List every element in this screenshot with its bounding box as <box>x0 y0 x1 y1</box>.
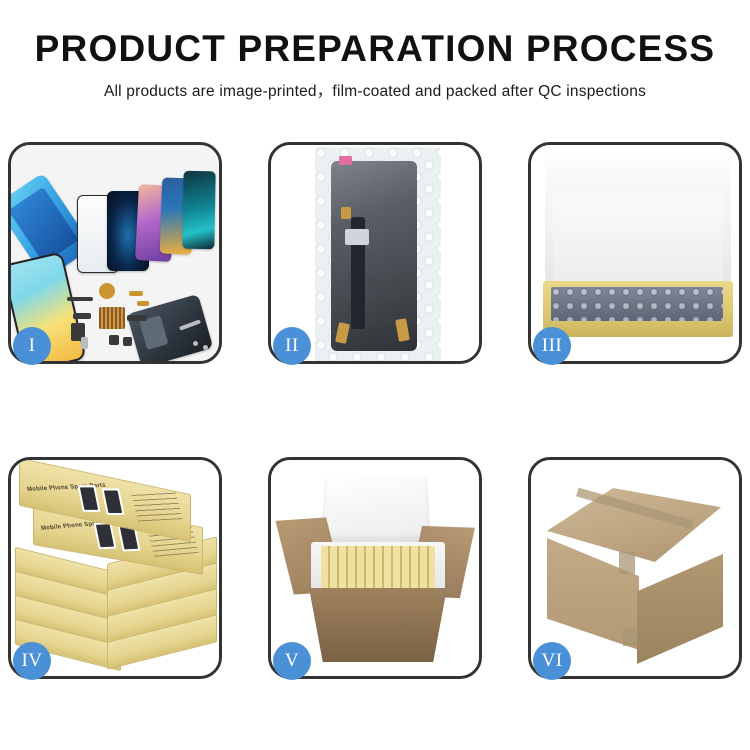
box-print-phone-a2 <box>93 522 116 549</box>
step-badge-4: IV <box>13 642 51 680</box>
pink-tape-marker <box>339 156 352 165</box>
part-camera-module <box>109 335 119 345</box>
step-panel-5: V <box>268 457 482 679</box>
step-image-4: Mobile Phone Spare Parts Mobile Phone Sp… <box>11 460 219 676</box>
part-screw-a <box>193 341 198 346</box>
step-panel-2: II <box>268 142 482 364</box>
box-print-phone-a1 <box>77 485 100 512</box>
step-image-2 <box>271 145 479 361</box>
foam-lid-open <box>321 476 432 542</box>
part-gold-flex-a <box>129 291 143 296</box>
step-badge-5: V <box>273 642 311 680</box>
box-print-phone-b1 <box>101 488 124 515</box>
carton-body <box>309 588 447 662</box>
part-vibrator-motor <box>99 283 115 299</box>
bubble-wrapped-contents <box>551 287 723 321</box>
step-image-5 <box>271 460 479 676</box>
gold-tape-a <box>341 207 351 219</box>
part-gold-flex-b <box>137 301 149 306</box>
step-panel-4: Mobile Phone Spare Parts Mobile Phone Sp… <box>8 457 222 679</box>
yellow-boxes-packed <box>321 546 435 588</box>
step-badge-3: III <box>533 327 571 365</box>
step-panel-3: III <box>528 142 742 364</box>
lcd-connector <box>345 229 369 245</box>
step-image-6 <box>531 460 739 676</box>
sealing-tape-corner <box>619 552 635 574</box>
phone-teal-wave <box>182 171 215 250</box>
part-earpiece-mesh <box>67 297 93 301</box>
step-panel-1: I <box>8 142 222 364</box>
step-badge-6: VI <box>533 642 571 680</box>
process-steps-grid: I II III <box>8 142 742 679</box>
step-badge-2: II <box>273 327 311 365</box>
step-panel-6: VI <box>528 457 742 679</box>
part-chip-array <box>99 307 125 329</box>
step-image-1 <box>11 145 219 361</box>
box-spec-lines-1 <box>131 493 182 522</box>
page-subtitle: All products are image-printed，film-coat… <box>0 79 750 101</box>
part-sim-tray <box>81 337 88 349</box>
page-title: PRODUCT PREPARATION PROCESS <box>0 30 750 69</box>
page-header: PRODUCT PREPARATION PROCESS All products… <box>0 0 750 101</box>
part-flex-cable-c <box>127 315 147 321</box>
step-image-3 <box>531 145 739 361</box>
part-screw-b <box>203 345 208 350</box>
part-speaker-module <box>123 337 132 346</box>
sealing-tape-bottom <box>623 628 637 646</box>
white-foam-lid <box>545 153 731 283</box>
part-flex-cable-a <box>73 313 91 319</box>
bubble-wrap-bag <box>315 147 441 361</box>
step-badge-1: I <box>13 327 51 365</box>
carton-side-face <box>637 554 723 664</box>
